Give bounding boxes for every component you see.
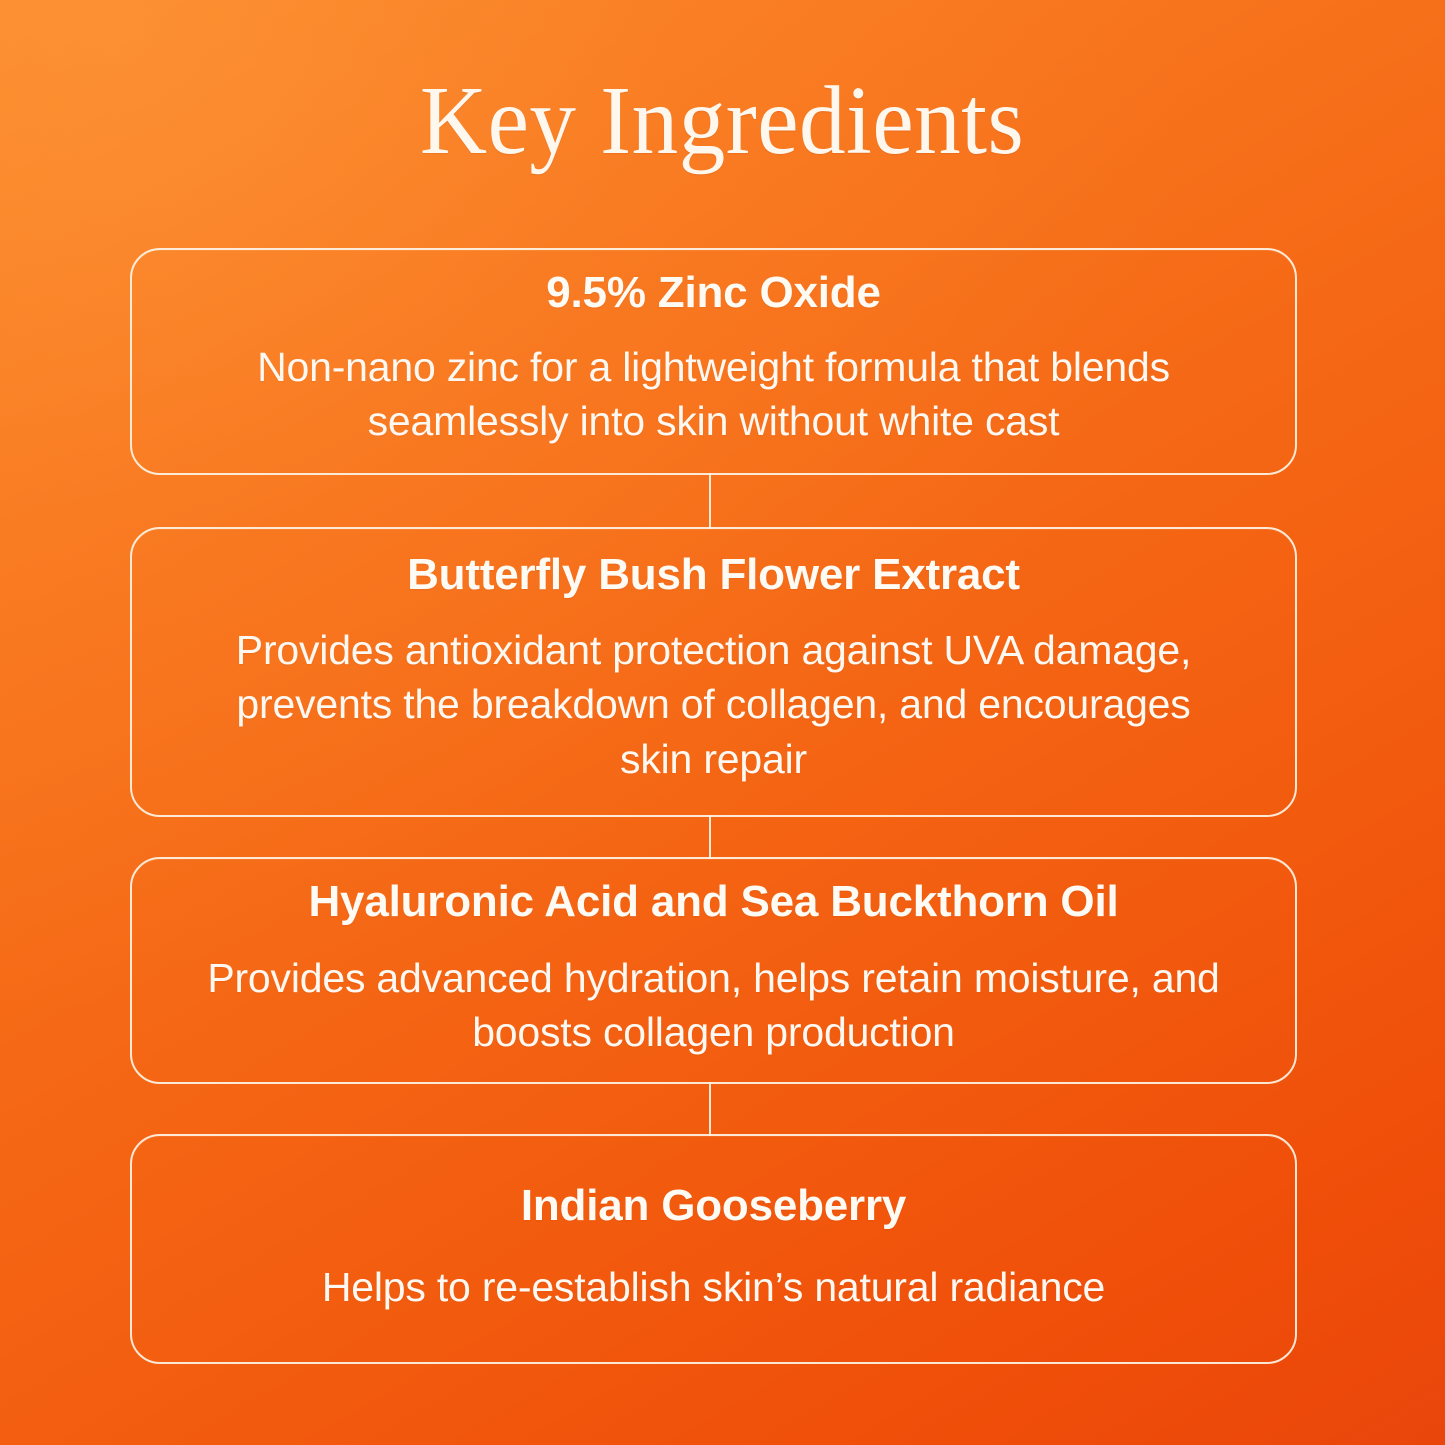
ingredients-poster: Key Ingredients 9.5% Zinc Oxide Non-nano… [0, 0, 1445, 1445]
ingredient-card-hyaluronic-acid: Hyaluronic Acid and Sea Buckthorn Oil Pr… [130, 857, 1297, 1084]
ingredient-card-heading: 9.5% Zinc Oxide [546, 268, 880, 317]
ingredient-card-heading: Indian Gooseberry [521, 1181, 906, 1230]
ingredient-card-description: Helps to re-establish skin’s natural rad… [322, 1260, 1105, 1315]
ingredient-card-description: Provides advanced hydration, helps retai… [199, 951, 1229, 1060]
ingredient-card-description: Non-nano zinc for a lightweight formula … [199, 340, 1229, 449]
card-gap-2 [130, 817, 1297, 857]
card-gap-1 [130, 475, 1297, 527]
connector-line-2 [709, 815, 711, 859]
ingredient-card-heading: Butterfly Bush Flower Extract [407, 550, 1020, 599]
ingredient-card-heading: Hyaluronic Acid and Sea Buckthorn Oil [308, 877, 1118, 926]
ingredient-card-indian-gooseberry: Indian Gooseberry Helps to re-establish … [130, 1134, 1297, 1364]
ingredient-card-butterfly-bush: Butterfly Bush Flower Extract Provides a… [130, 527, 1297, 817]
ingredient-card-description: Provides antioxidant protection against … [199, 623, 1229, 787]
page-title-container: Key Ingredients [0, 72, 1445, 170]
connector-line-1 [709, 473, 711, 529]
card-gap-3 [130, 1084, 1297, 1134]
connector-line-3 [709, 1082, 711, 1136]
ingredient-card-zinc-oxide: 9.5% Zinc Oxide Non-nano zinc for a ligh… [130, 248, 1297, 475]
page-title: Key Ingredients [420, 72, 1024, 170]
ingredient-card-list: 9.5% Zinc Oxide Non-nano zinc for a ligh… [130, 248, 1297, 1364]
